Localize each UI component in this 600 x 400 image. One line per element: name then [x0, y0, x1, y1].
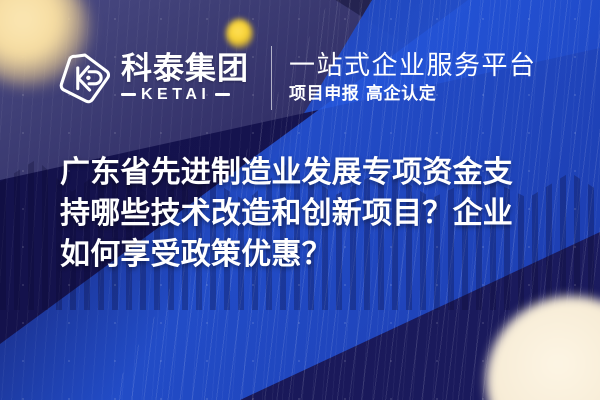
dash-right-icon	[215, 93, 230, 96]
headline-line-3: 如何享受政策优惠？	[60, 234, 560, 275]
brand-divider	[271, 46, 272, 110]
ketai-logo-icon	[58, 51, 112, 105]
headline-line-1: 广东省先进制造业发展专项资金支	[60, 152, 560, 193]
promo-banner: 科泰集团 KETAI 一站式企业服务平台 项目申报 高企认定 广东省先进制造业发…	[0, 0, 600, 400]
tagline-secondary: 项目申报 高企认定	[289, 85, 537, 104]
tagline-block: 一站式企业服务平台 项目申报 高企认定	[289, 52, 537, 104]
brand-name-en: KETAI	[141, 87, 210, 103]
brand-name-en-row: KETAI	[121, 87, 249, 103]
tagline-primary: 一站式企业服务平台	[289, 52, 537, 80]
headline: 广东省先进制造业发展专项资金支 持哪些技术改造和创新项目？企业 如何享受政策优惠…	[60, 152, 560, 275]
brand-wordmark: 科泰集团 KETAI	[121, 53, 249, 103]
brand-name-cn: 科泰集团	[121, 53, 249, 85]
brand-header: 科泰集团 KETAI 一站式企业服务平台 项目申报 高企认定	[58, 44, 537, 112]
headline-line-2: 持哪些技术改造和创新项目？企业	[60, 193, 560, 234]
dash-left-icon	[121, 93, 136, 96]
